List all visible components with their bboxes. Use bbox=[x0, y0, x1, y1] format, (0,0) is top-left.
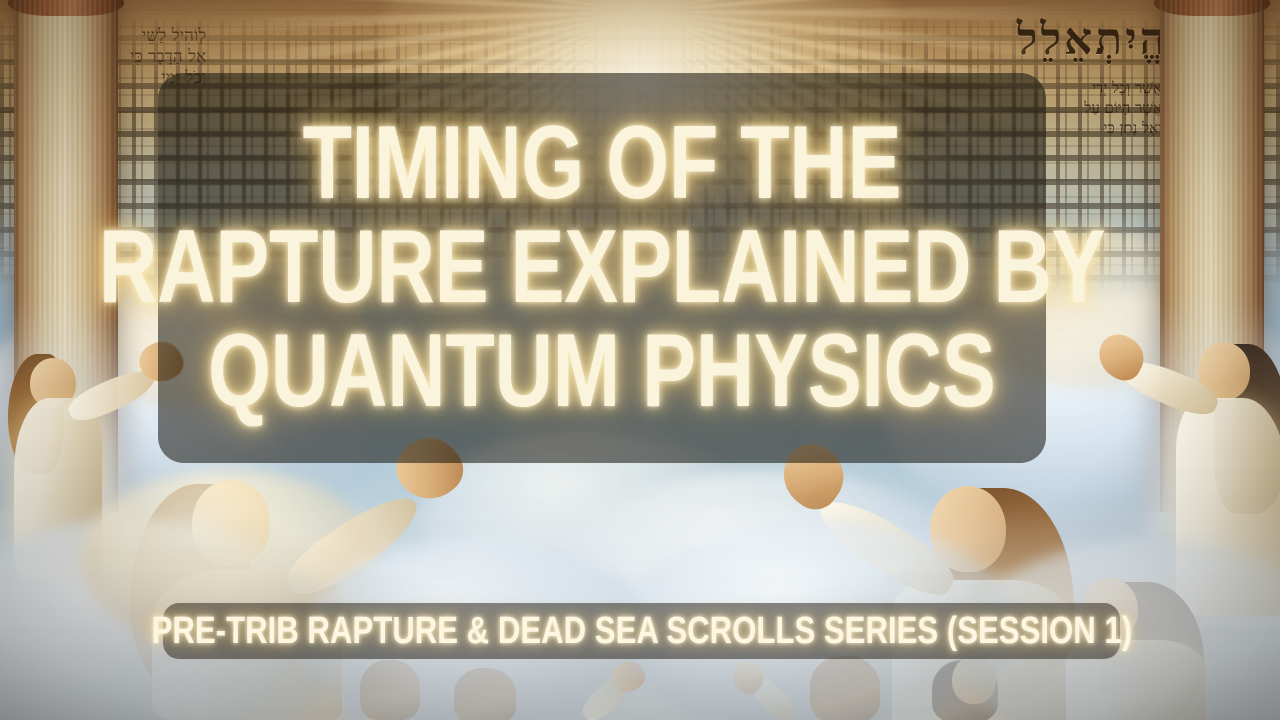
title-text-block: TIMING OF THE RAPTURE EXPLAINED BY QUANT… bbox=[158, 73, 1046, 463]
title-line-1: TIMING OF THE bbox=[303, 113, 902, 215]
title-line-2: RAPTURE EXPLAINED BY bbox=[99, 217, 1105, 319]
youtube-thumbnail: הֱיִתְאֵלֵל אֲשֶׁר וְכָל יְדֵי אֲשֶׁר הַ… bbox=[0, 0, 1280, 720]
title-panel: TIMING OF THE RAPTURE EXPLAINED BY QUANT… bbox=[158, 73, 1046, 463]
subtitle-text: PRE-TRIB RAPTURE & DEAD SEA SCROLLS SERI… bbox=[151, 610, 1132, 653]
title-line-3: QUANTUM PHYSICS bbox=[208, 321, 995, 423]
subtitle-panel: PRE-TRIB RAPTURE & DEAD SEA SCROLLS SERI… bbox=[163, 603, 1120, 659]
